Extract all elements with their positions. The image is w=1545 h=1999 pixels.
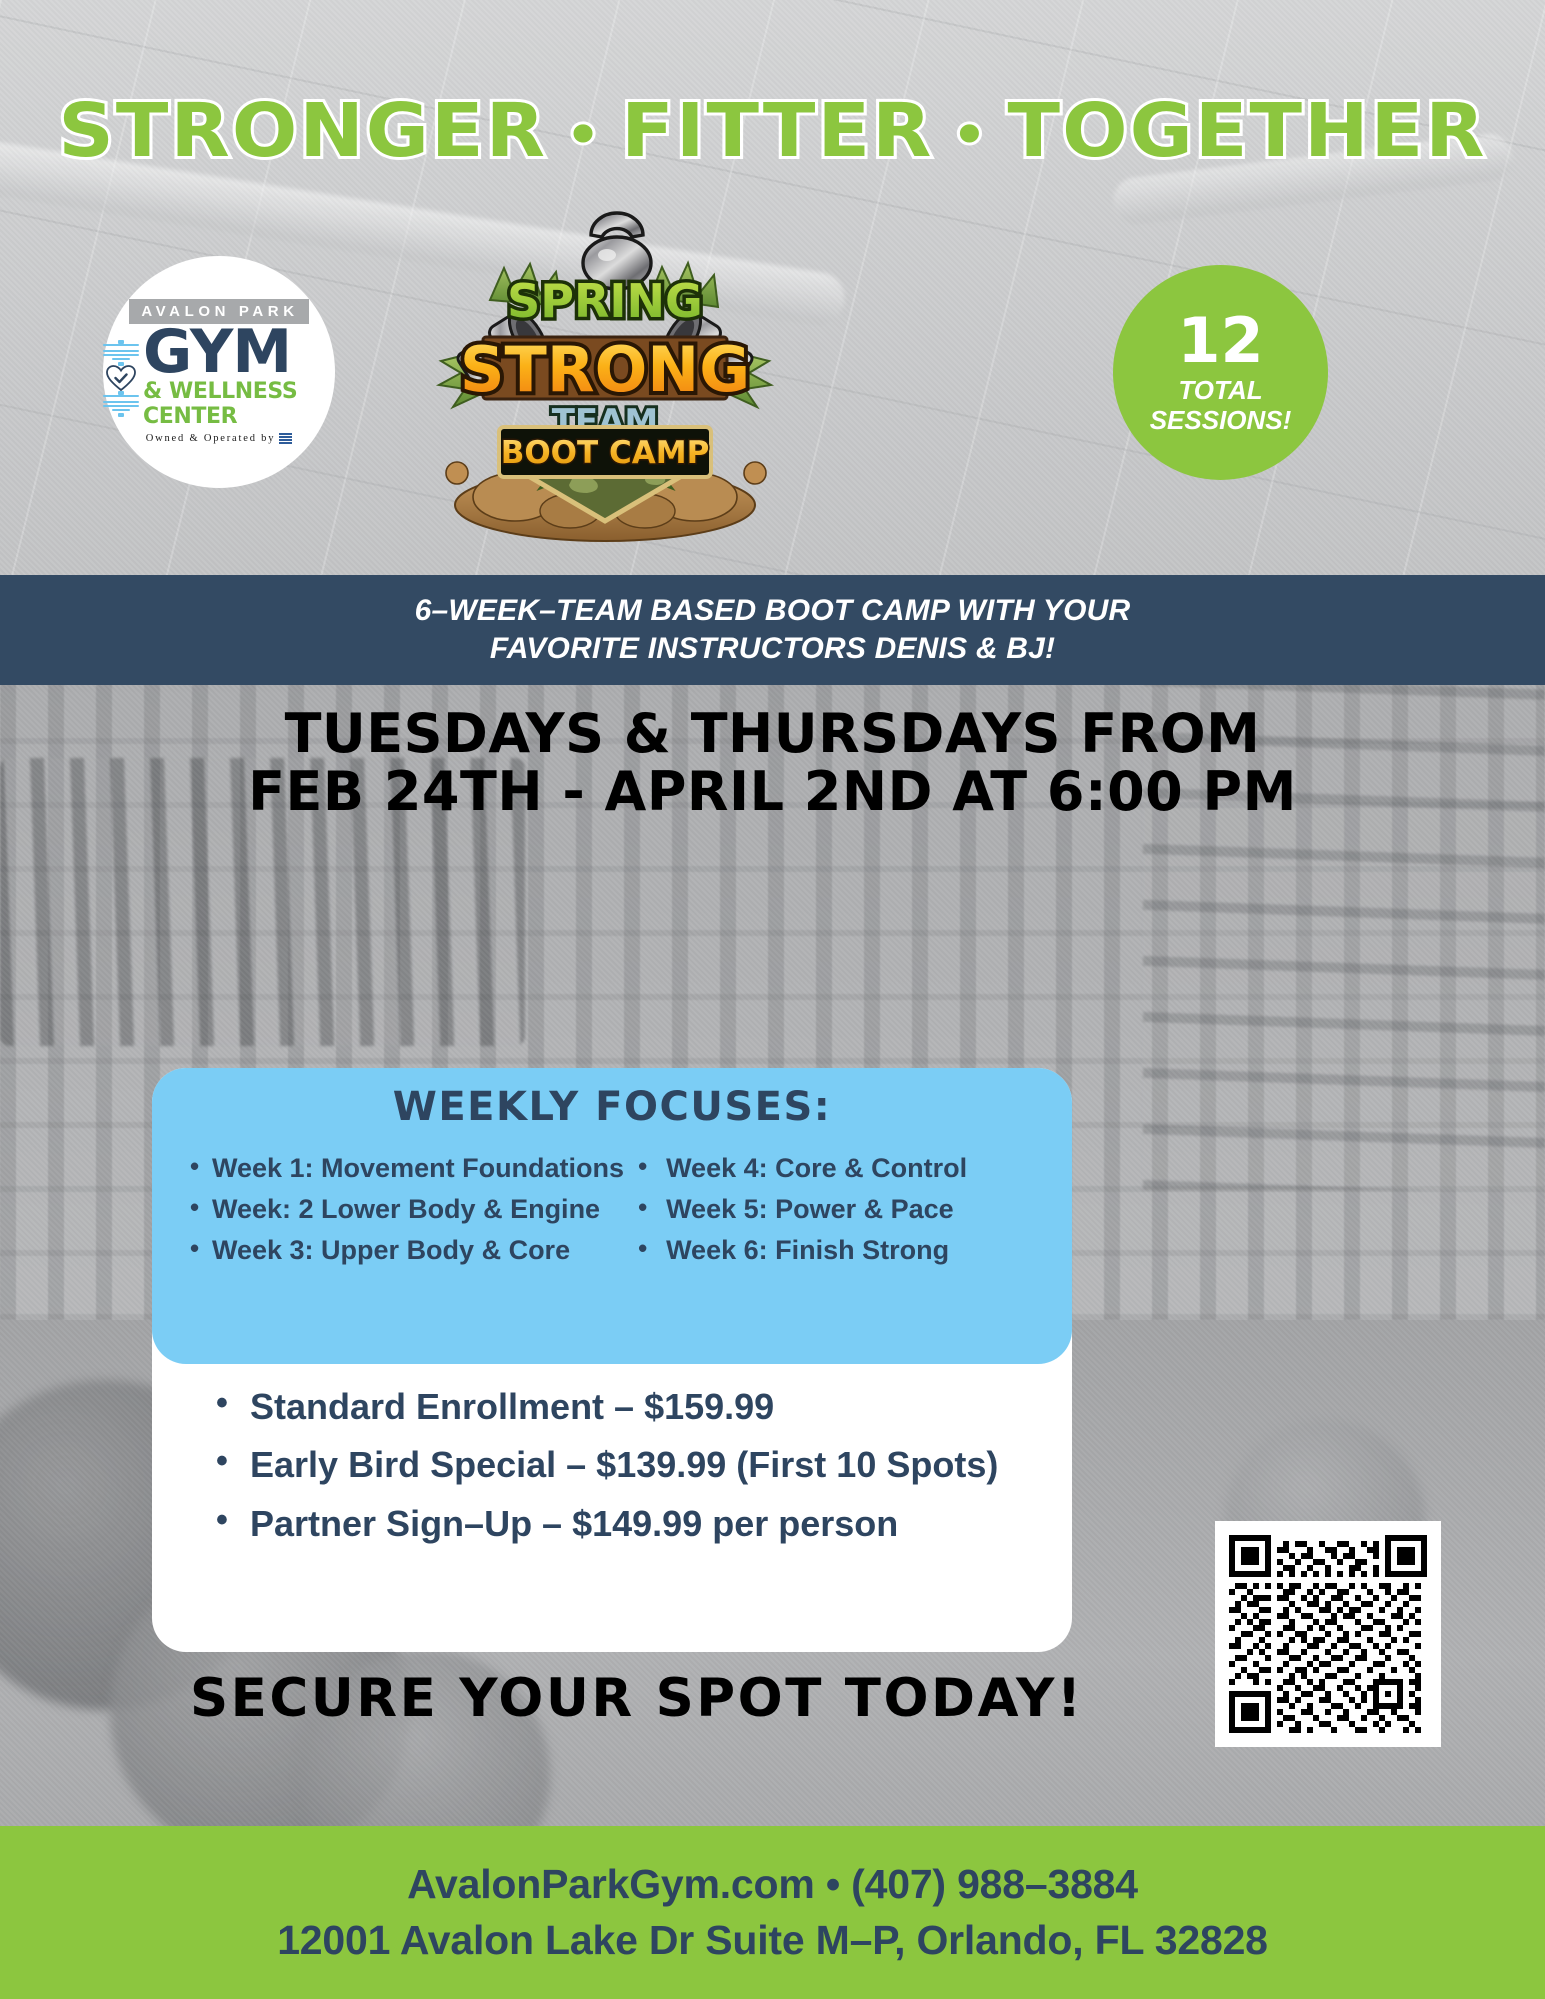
headline-separator: • xyxy=(952,105,989,165)
footer-address: 12001 Avalon Lake Dr Suite M–P, Orlando,… xyxy=(277,1918,1268,1963)
logo-wellness-center-text: & WELLNESS CENTER xyxy=(143,379,335,429)
pricing-list: Standard Enrollment – $159.99 Early Bird… xyxy=(152,1378,1072,1553)
list-item: Week 3: Upper Body & Core xyxy=(186,1230,624,1271)
sessions-label-line2: SESSIONS! xyxy=(1150,405,1292,435)
footer-website-phone: AvalonParkGym.com • (407) 988–3884 xyxy=(407,1862,1138,1907)
schedule-line-2: FEB 24TH - APRIL 2ND AT 6:00 PM xyxy=(0,763,1545,821)
weekly-focuses-box: WEEKLY FOCUSES: Week 1: Movement Foundat… xyxy=(152,1068,1072,1364)
weekly-focuses-columns: Week 1: Movement Foundations Week: 2 Low… xyxy=(152,1148,1072,1271)
program-description-banner: 6–WEEK–TEAM BASED BOOT CAMP WITH YOUR FA… xyxy=(0,575,1545,685)
list-item: Week 4: Core & Control xyxy=(634,1148,1038,1189)
logo-owned-text: Owned & Operated by xyxy=(146,433,276,444)
dumbbell-icon xyxy=(103,395,139,413)
list-item: Week: 2 Lower Body & Engine xyxy=(186,1189,624,1230)
logo-word-spring: SPRING xyxy=(507,274,703,328)
weekly-focuses-title: WEEKLY FOCUSES: xyxy=(152,1084,1072,1130)
sessions-label-line1: TOTAL xyxy=(1178,375,1262,405)
logo-word-strong: STRONG xyxy=(460,333,750,406)
list-item: Early Bird Special – $139.99 (First 10 S… xyxy=(214,1436,1072,1494)
total-sessions-badge: 12 TOTAL SESSIONS! xyxy=(1113,265,1328,480)
qr-code-image xyxy=(1229,1535,1427,1733)
headline-word-together: TOGETHER xyxy=(1008,88,1487,174)
list-item: Week 6: Finish Strong xyxy=(634,1230,1038,1271)
partner-badge-icon xyxy=(279,432,292,445)
list-item: Week 5: Power & Pace xyxy=(634,1189,1038,1230)
headline-separator: • xyxy=(566,105,603,165)
logo-gym-text-group: GYM & WELLNESS CENTER xyxy=(143,327,335,430)
contact-footer: AvalonParkGym.com • (407) 988–3884 12001… xyxy=(0,1826,1545,1999)
headline-word-fitter: FITTER xyxy=(621,88,933,174)
logo-word-boot-camp: BOOT CAMP xyxy=(501,435,710,471)
avalon-park-gym-logo: AVALON PARK GYM & WELLNESS CENTER Owned … xyxy=(103,256,335,488)
logo-owned-operated: Owned & Operated by xyxy=(146,432,293,445)
logo-gym-text: GYM xyxy=(143,327,335,379)
spring-strong-team-boot-camp-logo: SPRING STRONG TEAM BOOT CAMP xyxy=(395,205,815,545)
schedule-text: TUESDAYS & THURSDAYS FROM FEB 24TH - APR… xyxy=(0,705,1545,822)
schedule-line-1: TUESDAYS & THURSDAYS FROM xyxy=(0,705,1545,763)
dumbbell-icon xyxy=(103,344,139,362)
heart-check-icon xyxy=(106,365,136,392)
banner-line-1: 6–WEEK–TEAM BASED BOOT CAMP WITH YOUR xyxy=(415,592,1131,630)
boot-camp-banner: BOOT CAMP xyxy=(499,427,711,477)
sessions-label: TOTAL SESSIONS! xyxy=(1150,376,1292,434)
secure-your-spot-cta: SECURE YOUR SPOT TODAY! xyxy=(190,1668,1084,1729)
headline-word-stronger: STRONGER xyxy=(58,88,547,174)
list-item: Partner Sign–Up – $149.99 per person xyxy=(214,1495,1072,1553)
weekly-focuses-column-left: Week 1: Movement Foundations Week: 2 Low… xyxy=(186,1148,624,1271)
weekly-focuses-column-right: Week 4: Core & Control Week 5: Power & P… xyxy=(634,1148,1038,1271)
logo-icon-stack xyxy=(103,344,139,413)
page-headline: STRONGER•FITTER•TOGETHER xyxy=(0,88,1545,174)
sessions-count: 12 xyxy=(1177,310,1263,372)
list-item: Standard Enrollment – $159.99 xyxy=(214,1378,1072,1436)
banner-line-2: FAVORITE INSTRUCTORS DENIS & BJ! xyxy=(490,630,1055,668)
list-item: Week 1: Movement Foundations xyxy=(186,1148,624,1189)
logo-main-row: GYM & WELLNESS CENTER xyxy=(103,327,335,430)
qr-code[interactable] xyxy=(1215,1521,1441,1747)
